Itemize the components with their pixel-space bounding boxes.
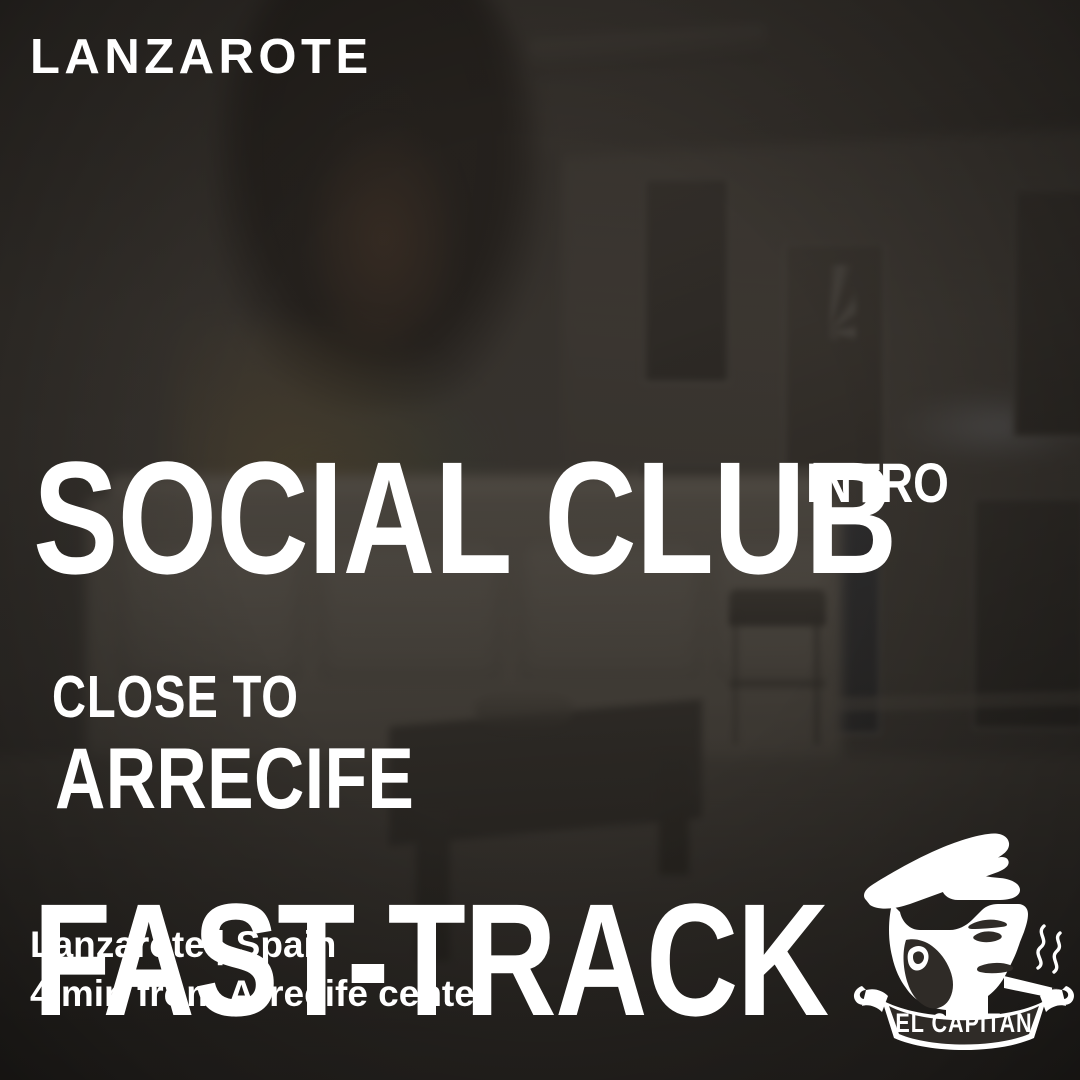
- footer-details: Lanzarote | Spain 4 min from Arrecife ce…: [30, 920, 489, 1018]
- smoke-icon: [1038, 926, 1060, 972]
- el-capitan-logo: EL CAPITAN: [848, 800, 1080, 1050]
- proximity-label: CLOSE TO: [52, 668, 299, 727]
- poster-content: LANZAROTE SOCIAL CLUB FAST-TRACK INTRO C…: [0, 0, 1080, 1080]
- proximity-city: ARRECIFE: [55, 736, 414, 822]
- logo-banner-text: EL CAPITAN: [895, 1009, 1032, 1039]
- eyebrow-location: LANZAROTE: [30, 33, 373, 82]
- poster-canvas: LANZAROTE SOCIAL CLUB FAST-TRACK INTRO C…: [0, 0, 1080, 1080]
- footer-distance: 4 min from Arrecife center: [30, 969, 489, 1018]
- headline-line-1: SOCIAL CLUB: [33, 444, 897, 591]
- footer-location: Lanzarote | Spain: [30, 920, 489, 969]
- intro-badge: INTRO: [806, 455, 949, 511]
